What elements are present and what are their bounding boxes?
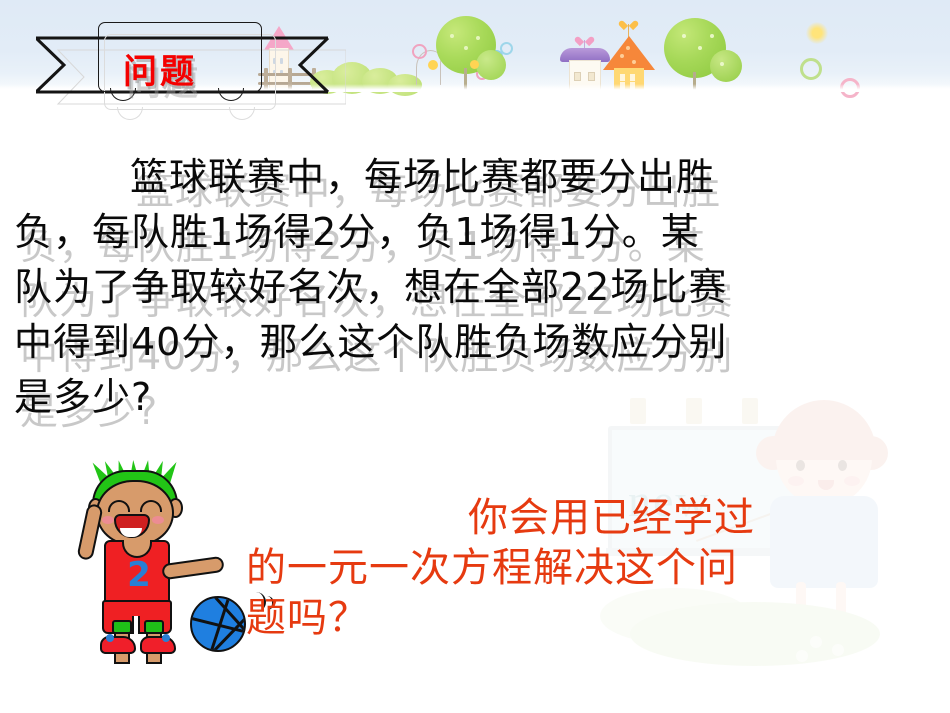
problem-line-2: 负，每队胜1场得2分，负1场得1分。某 负，每队胜1场得2分，负1场得1分。某	[14, 205, 936, 260]
page-title: 问题	[123, 44, 197, 93]
boy-sock-left	[112, 620, 132, 634]
green-tree-right-icon	[660, 18, 742, 90]
boy-cheek-left	[102, 516, 114, 524]
ribbon-right-notch	[300, 38, 328, 92]
question-line-3: 题吗？	[246, 593, 946, 643]
basketball-icon	[190, 596, 246, 652]
question-line-1: 你会用已经学过	[246, 493, 946, 543]
boy-arm-raised	[76, 503, 103, 561]
ribbon-left-notch	[36, 38, 64, 92]
boy-jersey-number: 2	[122, 556, 156, 594]
small-yellow-dot-icon	[470, 60, 479, 69]
slide-canvas: 问题 问题 new 篮球联赛中，每场比赛都要分出胜 篮球联赛中，每场比赛	[0, 0, 950, 713]
green-ring-icon	[800, 58, 822, 80]
boy-shoe-right	[140, 636, 176, 654]
question-line-2: 的一元一次方程解决这个问	[246, 543, 946, 593]
problem-statement: 篮球联赛中，每场比赛都要分出胜 篮球联赛中，每场比赛都要分出胜 负，每队胜1场得…	[14, 150, 936, 425]
boy-cheek-right	[152, 516, 164, 524]
problem-line-4: 中得到40分，那么这个队胜负场数应分别 中得到40分，那么这个队胜负场数应分别	[14, 315, 936, 370]
problem-line-3: 队为了争取较好名次，想在全部22场比赛 队为了争取较好名次，想在全部22场比赛	[14, 260, 936, 315]
yellow-glow-circle-icon	[806, 22, 828, 44]
guiding-question: 你会用已经学过 的一元一次方程解决这个问 题吗？	[246, 493, 946, 643]
boy-sock-right	[144, 620, 164, 634]
boy-arm-pointing	[161, 556, 225, 580]
orange-roof-house-icon	[600, 24, 658, 90]
small-blue-ring-icon	[500, 42, 513, 55]
green-tree-icon	[430, 16, 502, 90]
problem-line-1: 篮球联赛中，每场比赛都要分出胜 篮球联赛中，每场比赛都要分出胜	[14, 150, 936, 205]
